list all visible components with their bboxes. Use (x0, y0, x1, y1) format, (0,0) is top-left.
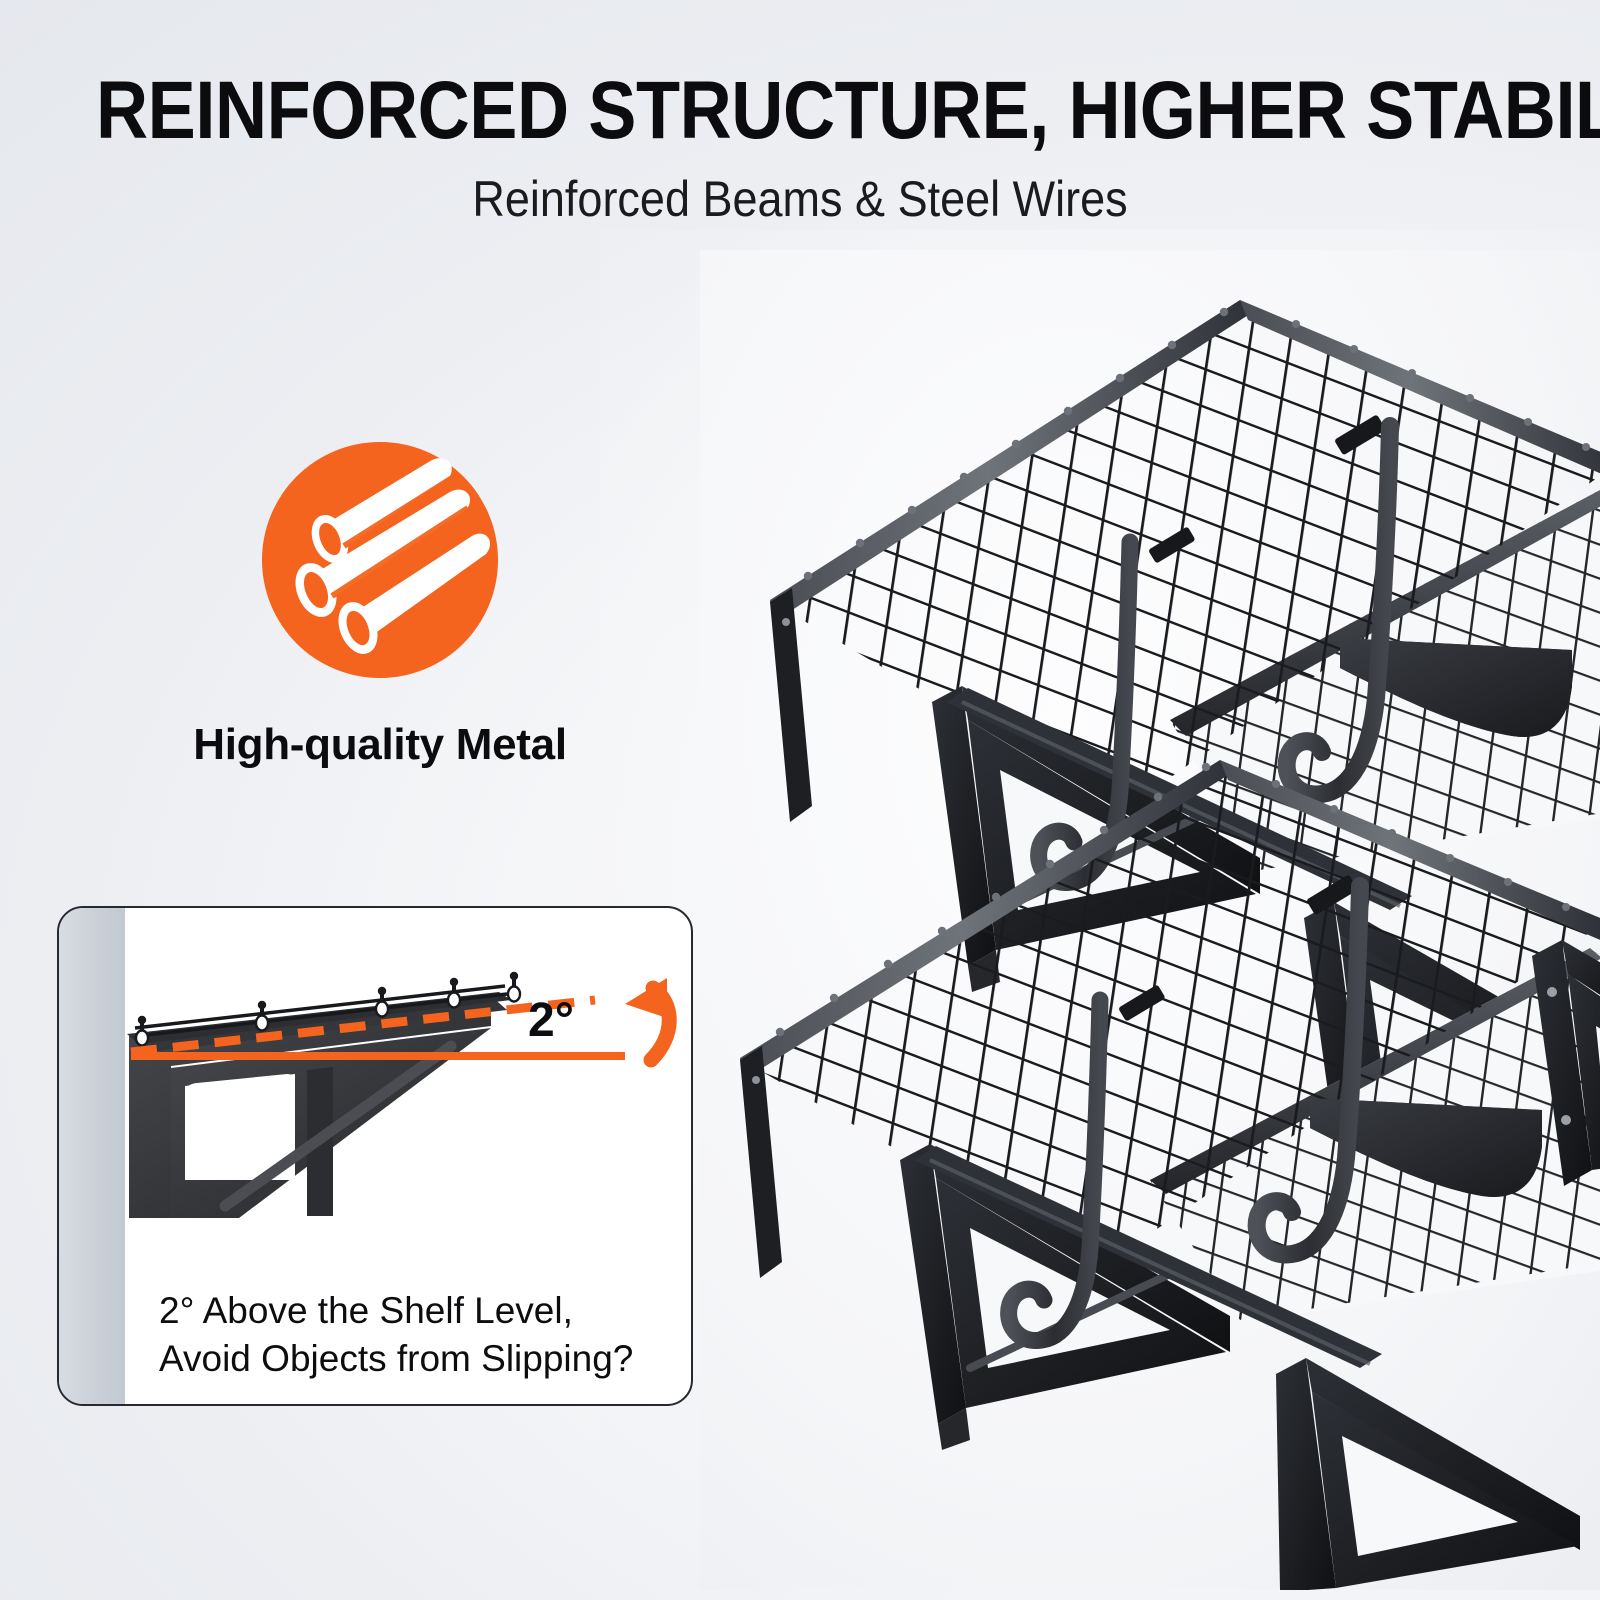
inset-caption-line-1: 2° Above the Shelf Level, (159, 1287, 679, 1334)
angle-label: 2° (528, 994, 574, 1047)
metal-pipes-icon (260, 440, 500, 680)
page-subtitle: Reinforced Beams & Steel Wires (80, 152, 1520, 224)
feature-badge: High-quality Metal (150, 440, 610, 770)
inset-wall-strip (59, 908, 125, 1404)
inset-bracket-diagram: 2° (119, 918, 693, 1268)
inset-caption: 2° Above the Shelf Level, Avoid Objects … (159, 1287, 679, 1382)
header-block: REINFORCED STRUCTURE, HIGHER STABILITY R… (0, 0, 1600, 224)
tilt-arrow-icon (625, 978, 669, 1060)
page-title: REINFORCED STRUCTURE, HIGHER STABILITY (96, 0, 1504, 152)
marketing-image-canvas: REINFORCED STRUCTURE, HIGHER STABILITY R… (0, 0, 1600, 1600)
product-photo (700, 250, 1600, 1590)
tilt-angle-info-card: 2° 2° Above the Shelf Level, Avoid Objec… (57, 906, 693, 1406)
feature-badge-label: High-quality Metal (150, 720, 610, 770)
inset-caption-line-2: Avoid Objects from Slipping? (159, 1335, 679, 1382)
